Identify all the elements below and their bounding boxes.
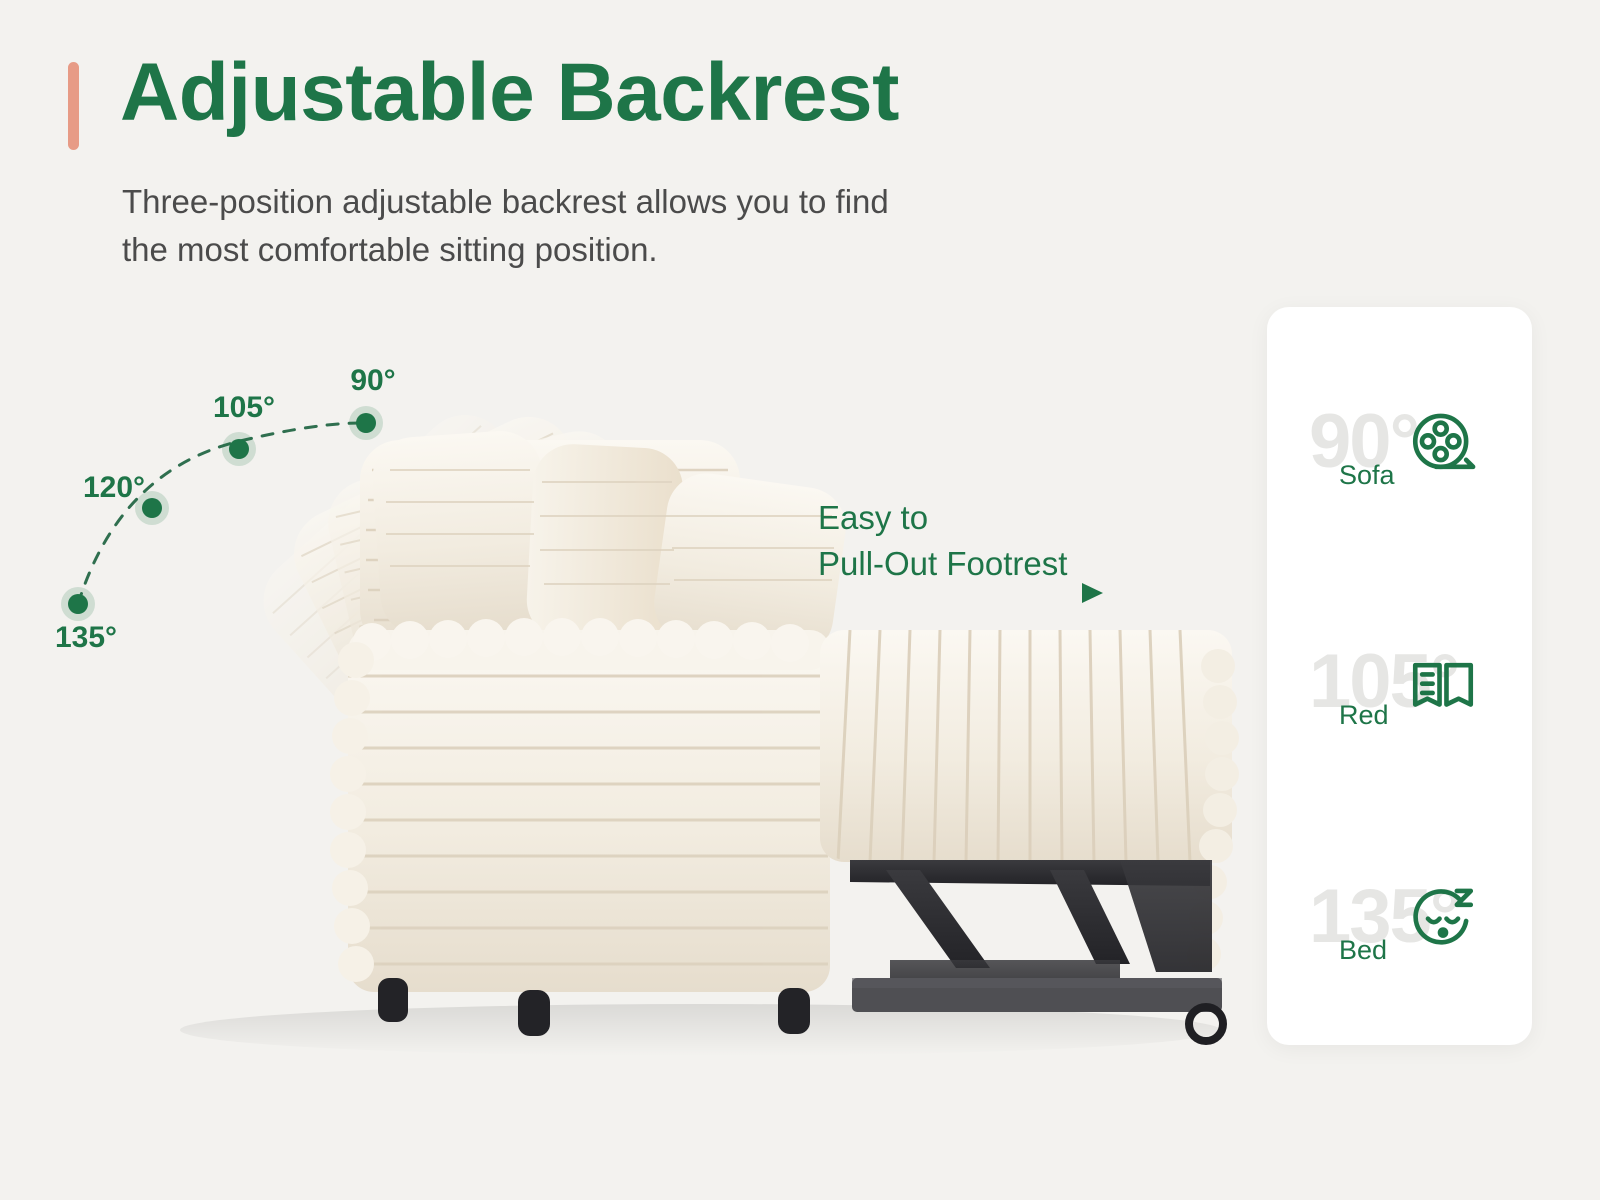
page-title: Adjustable Backrest: [120, 52, 899, 134]
angle-label-90: 90°: [350, 364, 395, 398]
mode-row-red[interactable]: 105°Red: [1267, 644, 1532, 754]
angle-label-135: 135°: [55, 621, 117, 655]
mode-label: Bed: [1339, 935, 1387, 966]
infographic-canvas: Adjustable Backrest Three-position adjus…: [0, 0, 1600, 1200]
mode-row-bed[interactable]: 135°Bed: [1267, 879, 1532, 989]
mode-row-sofa[interactable]: 90°Sofa: [1267, 404, 1532, 514]
mode-label: Sofa: [1339, 460, 1395, 491]
seat-block: [330, 618, 830, 992]
angle-dot-105: [229, 439, 249, 459]
angle-label-120: 120°: [83, 471, 145, 505]
mode-label: Red: [1339, 700, 1389, 731]
right-arrow-icon: [800, 578, 1110, 608]
footrest-metal-linkage: [850, 860, 1212, 982]
pullout-footrest: [820, 630, 1239, 1041]
page-subtitle: Three-position adjustable backrest allow…: [122, 178, 1082, 274]
angle-label-105: 105°: [213, 391, 275, 425]
subtitle-line-1: Three-position adjustable backrest allow…: [122, 178, 1082, 226]
footrest-callout-text: Easy to Pull-Out Footrest: [818, 495, 1067, 586]
subtitle-line-2: the most comfortable sitting position.: [122, 226, 1082, 274]
title-accent-bar: [68, 62, 79, 150]
angle-dot-90: [356, 413, 376, 433]
mode-summary-card: 90°Sofa105°Red135°Bed: [1267, 307, 1532, 1045]
callout-line-1: Easy to: [818, 495, 1067, 541]
open-book-icon: [1406, 649, 1480, 723]
angle-dot-135: [68, 594, 88, 614]
sleeping-face-icon: [1406, 884, 1480, 958]
film-reel-icon: [1406, 409, 1480, 483]
